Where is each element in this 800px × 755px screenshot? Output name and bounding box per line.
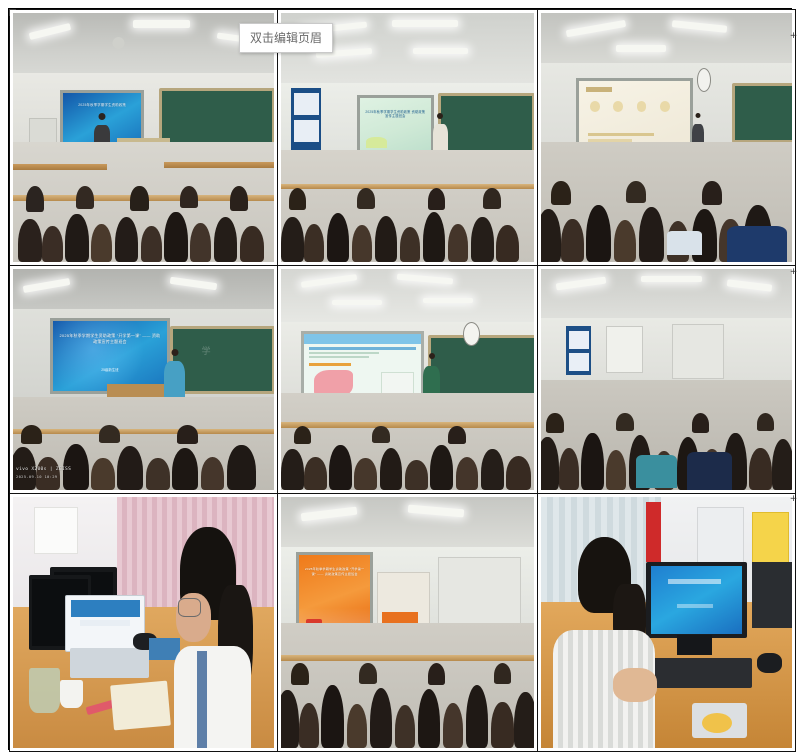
photo-r3c1[interactable] xyxy=(13,497,274,748)
photo-r1c3[interactable] xyxy=(541,13,792,262)
table-row: 2025年秋季学期学生资助政策 "开学第一课" —— 资助政策宣传主题班会 xyxy=(10,494,796,752)
table-row: 2025年秋季学期学生资助政策 xyxy=(10,10,796,266)
photo-watermark: vivo X200s | ZEISS 2025.09.10 10:29 xyxy=(16,467,71,480)
row-handle-3[interactable] xyxy=(789,495,798,504)
row-handle-1[interactable] xyxy=(789,32,798,41)
row-handle-2[interactable] xyxy=(789,268,798,277)
table-cell-r2c3[interactable] xyxy=(538,266,796,494)
table-cell-r1c3[interactable] xyxy=(538,10,796,266)
photo-r3c2[interactable]: 2025年秋季学期学生资助政策 "开学第一课" —— 资助政策宣传主题班会 xyxy=(281,497,534,748)
table-cell-r2c1[interactable]: 学 2025年秋季学期学生资助政策 "开学第一课" —— 资助政策宣传主题班会 … xyxy=(10,266,278,494)
photo-grid-table[interactable]: 2025年秋季学期学生资助政策 xyxy=(9,9,796,752)
table-cell-r1c1[interactable]: 2025年秋季学期学生资助政策 xyxy=(10,10,278,266)
table-cell-r3c1[interactable] xyxy=(10,494,278,752)
table-cell-r2c2[interactable] xyxy=(278,266,538,494)
slide-subtitle: 25级新生班 xyxy=(53,367,168,372)
photo-r1c1[interactable]: 2025年秋季学期学生资助政策 xyxy=(13,13,274,262)
slide-title: 2025年秋季学期学生资助政策 "开学第一课" —— 资助政策宣传主题班会 xyxy=(59,333,160,345)
watermark-datetime: 2025.09.10 10:29 xyxy=(16,474,71,480)
table-cell-r3c2[interactable]: 2025年秋季学期学生资助政策 "开学第一课" —— 资助政策宣传主题班会 xyxy=(278,494,538,752)
header-edit-tooltip: 双击编辑页眉 xyxy=(239,23,333,53)
slide-title: 2025年秋季学期学生资助政策 "开学第一课" —— 资助政策宣传主题班会 xyxy=(303,567,365,576)
table-row: 学 2025年秋季学期学生资助政策 "开学第一课" —— 资助政策宣传主题班会 … xyxy=(10,266,796,494)
photo-r3c3[interactable] xyxy=(541,497,792,748)
photo-r2c2[interactable] xyxy=(281,269,534,490)
table-cell-r3c3[interactable] xyxy=(538,494,796,752)
photo-r2c3[interactable] xyxy=(541,269,792,490)
header-corner-mark-left xyxy=(9,9,19,19)
document-page: 2025年秋季学期学生资助政策 xyxy=(0,0,800,755)
photo-r2c1[interactable]: 学 2025年秋季学期学生资助政策 "开学第一课" —— 资助政策宣传主题班会 … xyxy=(13,269,274,490)
